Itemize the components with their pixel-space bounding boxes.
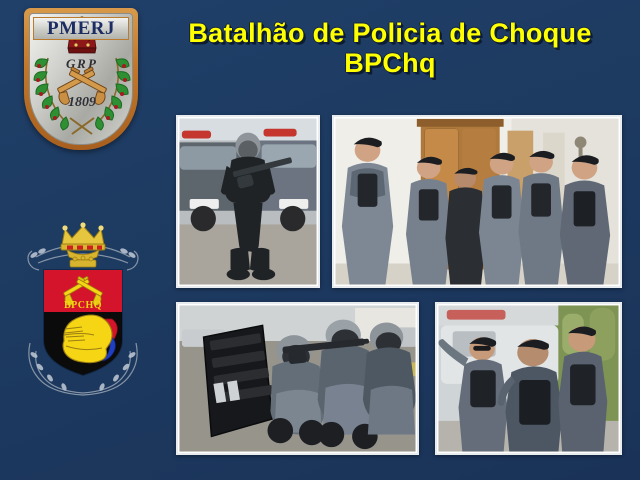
pmerj-crest: G R P xyxy=(24,8,138,150)
photo-officers-street[interactable] xyxy=(435,302,622,455)
photo-shield-formation-image xyxy=(178,304,417,453)
title-line-1: Batalhão de Policia de Choque xyxy=(150,18,630,48)
photo-shield-formation[interactable] xyxy=(176,302,419,455)
crown-base-ornament xyxy=(70,256,96,267)
shield-label: BPCHQ xyxy=(64,300,102,311)
presentation-slide: Batalhão de Policia de Choque BPChq xyxy=(0,0,640,480)
crest-year: 1809 xyxy=(68,95,96,110)
photo-officer-vehicles-image xyxy=(178,117,318,286)
bpchq-crest-artwork: BPCHQ xyxy=(20,215,146,407)
pmerj-banner-label: PMERJ xyxy=(47,19,115,38)
photo-officers-street-image xyxy=(437,304,620,453)
photo-squad-doorway-image xyxy=(334,117,620,286)
svg-text:R: R xyxy=(76,56,86,71)
title-line-2: BPChq xyxy=(150,48,630,78)
pmerj-banner: PMERJ xyxy=(33,17,129,40)
sunglasses-icon xyxy=(473,346,491,351)
pmerj-crest-field: G R P xyxy=(29,13,133,145)
page-title: Batalhão de Policia de Choque BPChq xyxy=(150,18,630,78)
photo-officer-vehicles[interactable] xyxy=(176,115,320,288)
riot-shield-icon xyxy=(204,325,274,436)
bpchq-shield: BPCHQ xyxy=(44,270,122,377)
crown-icon xyxy=(61,222,105,260)
photo-squad-doorway[interactable] xyxy=(332,115,622,288)
knight-helmet-icon xyxy=(63,315,117,363)
wreath-stems xyxy=(70,118,94,134)
bpchq-crest: BPCHQ xyxy=(20,215,146,407)
